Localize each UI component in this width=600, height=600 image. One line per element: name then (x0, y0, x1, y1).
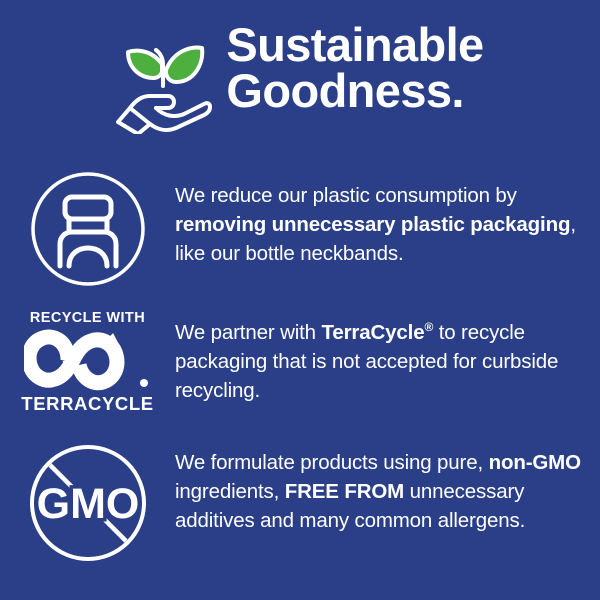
infinity-arrows-icon (24, 329, 152, 391)
text-part-bold: non-GMO (489, 451, 581, 474)
poster-header: Sustainable Goodness. (0, 22, 600, 134)
feature-icon-cell: RECYCLE WITH TERRACYCLE (0, 308, 175, 415)
feature-text-cell: We reduce our plastic consumption by rem… (175, 168, 600, 268)
feature-text-cell: We formulate products using pure, non-GM… (175, 440, 600, 535)
feature-row-gmo: GMO We formulate products using pure, no… (0, 440, 600, 564)
feature-row-terracycle: RECYCLE WITH TERRACYCLE We partner with (0, 308, 600, 415)
registered-trademark-mark: ® (424, 320, 433, 334)
terracycle-bottom-label: TERRACYCLE (21, 393, 153, 415)
brand-title: Sustainable Goodness. (226, 22, 483, 114)
text-part: We partner with (175, 321, 321, 344)
terracycle-logo-icon: RECYCLE WITH TERRACYCLE (22, 310, 154, 415)
text-part-bold: removing unnecessary plastic packaging (175, 213, 570, 236)
plastic-bottle-icon (29, 170, 147, 288)
text-part: ingredients, (175, 480, 285, 503)
feature-paragraph-plastic: We reduce our plastic consumption by rem… (175, 181, 582, 268)
terracycle-top-label: RECYCLE WITH (30, 310, 145, 326)
feature-icon-cell: GMO (0, 440, 175, 564)
feature-icon-cell (0, 168, 175, 288)
title-line-2: Goodness. (226, 68, 483, 114)
text-part: We formulate products using pure, (175, 451, 489, 474)
feature-paragraph-terracycle: We partner with TerraCycle® to recycle p… (175, 318, 582, 405)
sustainability-poster: Sustainable Goodness. W (0, 0, 600, 600)
text-part: We reduce our plastic consumption by (175, 184, 517, 207)
no-gmo-icon: GMO (27, 442, 149, 564)
hand-holding-sprout-icon (116, 30, 212, 134)
text-part-bold: TerraCycle (321, 321, 424, 344)
text-part-bold: FREE FROM (285, 480, 404, 503)
title-line-1: Sustainable (226, 22, 483, 68)
feature-text-cell: We partner with TerraCycle® to recycle p… (175, 308, 600, 405)
gmo-label: GMO (36, 480, 139, 528)
feature-paragraph-gmo: We formulate products using pure, non-GM… (175, 448, 582, 535)
feature-row-plastic: We reduce our plastic consumption by rem… (0, 168, 600, 288)
